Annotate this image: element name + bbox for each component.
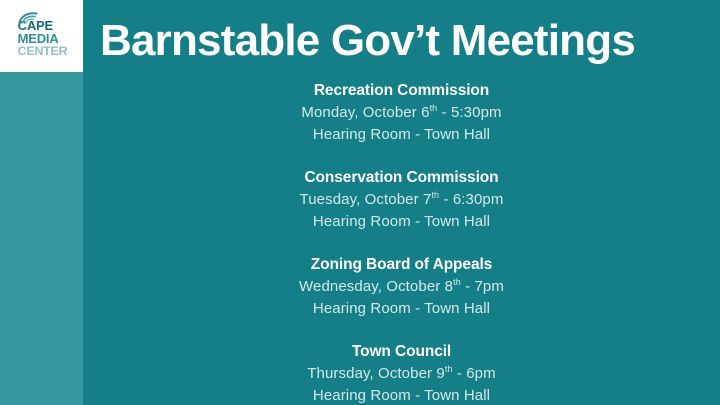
meeting-day: Thursday, bbox=[307, 365, 373, 382]
meeting-time: 5:30pm bbox=[451, 104, 502, 121]
meeting-month: October bbox=[386, 278, 440, 295]
list-item: Zoning Board of Appeals Wednesday, Octob… bbox=[83, 254, 720, 320]
meetings-list: Recreation Commission Monday, October 6t… bbox=[83, 76, 720, 405]
brand-logo: CAPE MEDIA CENTER bbox=[0, 0, 83, 72]
meeting-date: 6 bbox=[421, 104, 429, 121]
list-item: Conservation Commission Tuesday, October… bbox=[83, 167, 720, 233]
meeting-title: Recreation Commission bbox=[83, 80, 720, 102]
meeting-title: Town Council bbox=[83, 341, 720, 363]
meeting-day: Tuesday, bbox=[300, 191, 361, 208]
list-item: Recreation Commission Monday, October 6t… bbox=[83, 80, 720, 146]
meeting-day: Wednesday, bbox=[299, 278, 382, 295]
meeting-month: October bbox=[378, 365, 432, 382]
meeting-dash: - bbox=[443, 191, 448, 208]
meeting-date-ordinal: th bbox=[430, 103, 438, 113]
meeting-location: Hearing Room - Town Hall bbox=[83, 211, 720, 233]
meeting-dash: - bbox=[442, 104, 447, 121]
meeting-date-ordinal: th bbox=[445, 364, 453, 374]
meeting-time: 7pm bbox=[474, 278, 503, 295]
wifi-arc-icon bbox=[18, 12, 40, 24]
meeting-day: Monday, bbox=[301, 104, 358, 121]
meeting-datetime: Monday, October 6th - 5:30pm bbox=[83, 102, 720, 124]
meeting-datetime: Wednesday, October 8th - 7pm bbox=[83, 276, 720, 298]
header: Barnstable Gov’t Meetings bbox=[100, 10, 712, 72]
meeting-location: Hearing Room - Town Hall bbox=[83, 124, 720, 146]
meeting-month: October bbox=[365, 191, 419, 208]
meeting-time: 6:30pm bbox=[453, 191, 504, 208]
page-title: Barnstable Gov’t Meetings bbox=[100, 19, 635, 63]
meeting-title: Conservation Commission bbox=[83, 167, 720, 189]
meeting-date-ordinal: th bbox=[431, 190, 439, 200]
meeting-dash: - bbox=[465, 278, 470, 295]
logo-text-center: CENTER bbox=[16, 45, 68, 57]
meeting-date: 8 bbox=[445, 278, 453, 295]
meeting-title: Zoning Board of Appeals bbox=[83, 254, 720, 276]
meeting-location: Hearing Room - Town Hall bbox=[83, 385, 720, 405]
meeting-datetime: Tuesday, October 7th - 6:30pm bbox=[83, 189, 720, 211]
meeting-date: 9 bbox=[436, 365, 444, 382]
list-item: Town Council Thursday, October 9th - 6pm… bbox=[83, 341, 720, 405]
meeting-time: 6pm bbox=[466, 365, 495, 382]
meeting-month: October bbox=[363, 104, 417, 121]
meeting-datetime: Thursday, October 9th - 6pm bbox=[83, 363, 720, 385]
meeting-dash: - bbox=[457, 365, 462, 382]
meeting-location: Hearing Room - Town Hall bbox=[83, 298, 720, 320]
meeting-date-ordinal: th bbox=[453, 277, 461, 287]
